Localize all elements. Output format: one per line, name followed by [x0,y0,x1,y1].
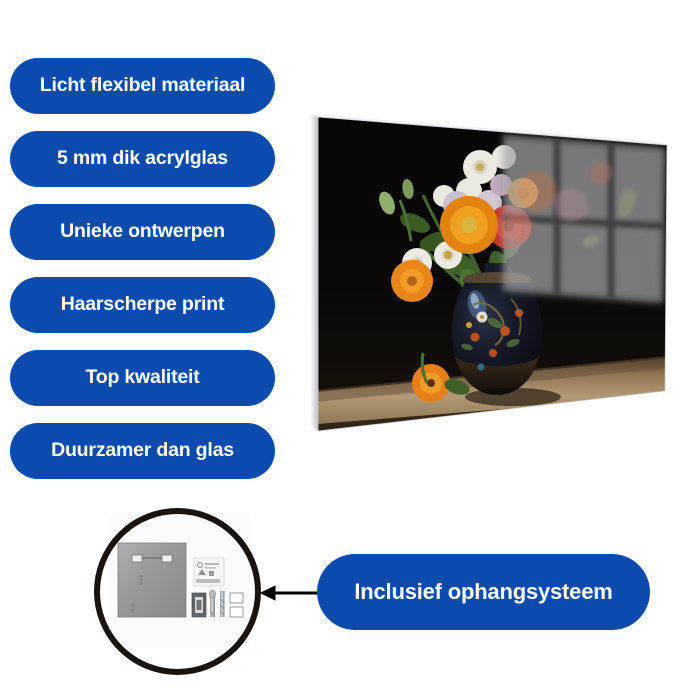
orange-calendula-center [440,196,498,254]
feature-pill-label: Top kwaliteit [85,368,199,388]
artwork-face [305,95,680,445]
feature-pill-licht-flexibel-materiaal[interactable]: Licht flexibel materiaal [10,58,275,114]
feature-pill-label: Duurzamer dan glas [51,441,234,461]
feature-pill-label: Licht flexibel materiaal [40,76,245,96]
orange-calendula-left [391,260,433,302]
feature-pill-5-mm-dik-acrylglas[interactable]: 5 mm dik acrylglas [10,131,275,187]
acrylic-print-artwork [305,95,680,445]
detail-circle-outline [94,508,261,675]
feature-pill-duurzamer-dan-glas[interactable]: Duurzamer dan glas [10,423,275,479]
callout-pill-label: Inclusief ophangsysteem [354,581,612,603]
feature-pill-label: Haarscherpe print [61,295,225,315]
callout-pill-inclusief-ophangsysteem[interactable]: Inclusief ophangsysteem [317,554,650,630]
acrylic-edge-left [310,114,318,431]
arrow-left-icon [261,586,323,600]
feature-pill-haarscherpe-print[interactable]: Haarscherpe print [10,277,275,333]
callout-connector [255,575,325,611]
feature-pill-label: Unieke ontwerpen [60,222,225,242]
feature-pill-top-kwaliteit[interactable]: Top kwaliteit [10,350,275,406]
feature-pill-unieke-ontwerpen[interactable]: Unieke ontwerpen [10,204,275,260]
feature-pill-label: 5 mm dik acrylglas [57,149,228,169]
product-feature-infographic: Licht flexibel materiaal 5 mm dik acrylg… [0,0,700,700]
